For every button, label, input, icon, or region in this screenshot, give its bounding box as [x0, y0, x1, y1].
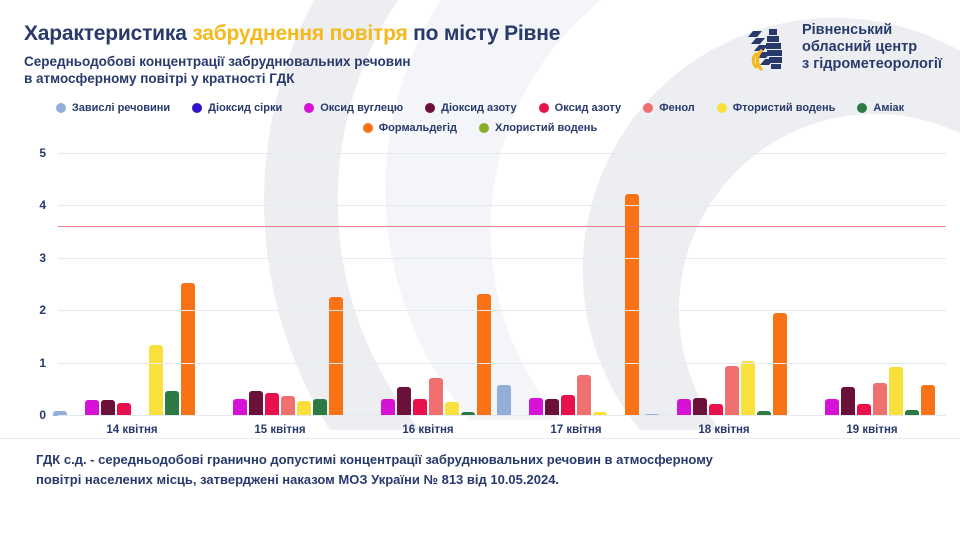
footnote-divider — [0, 438, 960, 439]
x-axis-tick-label: 19 квітня — [798, 424, 946, 436]
gridline-1: 1 — [58, 363, 946, 364]
gridline-0: 0 — [58, 415, 946, 416]
bar[interactable] — [921, 385, 935, 416]
bar[interactable] — [889, 367, 903, 416]
gdk-reference-line — [58, 226, 946, 228]
footnote-line-2: повітрі населених місць, затверджені нак… — [36, 470, 926, 490]
legend-item-label: Формальдегід — [379, 122, 457, 134]
legend-item-label: Хлористий водень — [495, 122, 597, 134]
bar[interactable] — [329, 297, 343, 416]
chart-area: 14 квітня15 квітня16 квітня17 квітня18 к… — [0, 142, 960, 437]
bar[interactable] — [841, 387, 855, 416]
x-axis-tick-label: 18 квітня — [650, 424, 798, 436]
legend-item-1[interactable]: Завислі речовини — [56, 102, 170, 114]
gridline-3: 3 — [58, 258, 946, 259]
gridline-4: 4 — [58, 205, 946, 206]
bar[interactable] — [741, 361, 755, 416]
bar[interactable] — [545, 399, 559, 416]
bar-group-bars — [502, 154, 650, 416]
bar[interactable] — [165, 391, 179, 416]
legend-item-label: Діоксид азоту — [441, 102, 517, 114]
bar[interactable] — [429, 378, 443, 416]
legend-item-label: Аміак — [873, 102, 904, 114]
x-axis-tick-label: 17 квітня — [502, 424, 650, 436]
bar[interactable] — [773, 313, 787, 416]
legend-item-8[interactable]: Аміак — [857, 102, 904, 114]
footnote: ГДК с.д. - середньодобові гранично допус… — [36, 450, 926, 490]
legend-color-swatch-icon — [425, 103, 435, 113]
bar[interactable] — [233, 399, 247, 416]
slide-root: Характеристика забруднення повітря по мі… — [0, 0, 960, 540]
bar[interactable] — [477, 294, 491, 416]
bar-group-6: 19 квітня — [798, 154, 946, 416]
legend-item-label: Фенол — [659, 102, 695, 114]
bar[interactable] — [281, 396, 295, 416]
bar-group-2: 15 квітня — [206, 154, 354, 416]
bar-group-bars — [650, 154, 798, 416]
legend-item-9[interactable]: Формальдегід — [363, 122, 457, 134]
legend-item-label: Завислі речовини — [72, 102, 170, 114]
y-axis-tick-label: 1 — [39, 356, 46, 370]
bar[interactable] — [413, 399, 427, 416]
x-axis-tick-label: 15 квітня — [206, 424, 354, 436]
bar[interactable] — [381, 399, 395, 416]
legend-item-label: Оксид вуглецю — [320, 102, 403, 114]
footnote-line-1: ГДК с.д. - середньодобові гранично допус… — [36, 450, 926, 470]
legend-item-label: Оксид азоту — [555, 102, 622, 114]
legend-color-swatch-icon — [304, 103, 314, 113]
bar-group-5: 18 квітня — [650, 154, 798, 416]
legend-color-swatch-icon — [539, 103, 549, 113]
page-subtitle: Середньодобові концентрації забруднюваль… — [24, 53, 560, 87]
legend-item-label: Фтористий водень — [733, 102, 836, 114]
bar-group-1: 14 квітня — [58, 154, 206, 416]
bar[interactable] — [149, 345, 163, 416]
x-axis-tick-label: 14 квітня — [58, 424, 206, 436]
bar[interactable] — [397, 387, 411, 416]
legend-color-swatch-icon — [717, 103, 727, 113]
legend-item-2[interactable]: Діоксид сірки — [192, 102, 282, 114]
y-axis-tick-label: 3 — [39, 251, 46, 265]
legend-item-6[interactable]: Фенол — [643, 102, 695, 114]
header: Характеристика забруднення повітря по мі… — [0, 0, 960, 96]
title-suffix: по місту Рівне — [408, 22, 561, 45]
legend-color-swatch-icon — [363, 123, 373, 133]
legend-color-swatch-icon — [56, 103, 66, 113]
bar[interactable] — [561, 395, 575, 416]
plot-region: 14 квітня15 квітня16 квітня17 квітня18 к… — [58, 154, 946, 416]
logo-line-3: з гідрометеорології — [802, 56, 942, 73]
bar-group-bars — [206, 154, 354, 416]
bar[interactable] — [265, 393, 279, 416]
bar[interactable] — [313, 399, 327, 416]
legend-color-swatch-icon — [479, 123, 489, 133]
legend-color-swatch-icon — [643, 103, 653, 113]
bar[interactable] — [577, 375, 591, 416]
subtitle-line-2: в атмосферному повітрі у кратності ГДК — [24, 70, 560, 87]
x-axis-tick-label: 16 квітня — [354, 424, 502, 436]
bar[interactable] — [529, 398, 543, 416]
bar[interactable] — [181, 283, 195, 416]
legend-item-3[interactable]: Оксид вуглецю — [304, 102, 403, 114]
bar[interactable] — [249, 391, 263, 416]
bar[interactable] — [445, 402, 459, 416]
legend-item-label: Діоксид сірки — [208, 102, 282, 114]
y-axis-tick-label: 4 — [39, 198, 46, 212]
organization-name: Рівненський обласний центр з гідрометеор… — [802, 22, 942, 73]
legend-item-10[interactable]: Хлористий водень — [479, 122, 597, 134]
legend-row-secondary: ФормальдегідХлористий водень — [0, 118, 960, 138]
bar-group-4: 17 квітня — [502, 154, 650, 416]
legend-row-primary: Завислі речовиниДіоксид сіркиОксид вугле… — [0, 98, 960, 118]
title-prefix: Характеристика — [24, 22, 192, 45]
chart-legend: Завислі речовиниДіоксид сіркиОксид вугле… — [0, 98, 960, 138]
y-axis-tick-label: 2 — [39, 303, 46, 317]
bar-groups: 14 квітня15 квітня16 квітня17 квітня18 к… — [58, 154, 946, 416]
legend-item-7[interactable]: Фтористий водень — [717, 102, 836, 114]
hydromet-wave-mountain-icon — [747, 25, 791, 71]
bar[interactable] — [297, 401, 311, 416]
organization-logo: Рівненський обласний центр з гідрометеор… — [747, 22, 942, 73]
bar[interactable] — [85, 400, 99, 416]
bar[interactable] — [873, 383, 887, 416]
gridline-5: 5 — [58, 153, 946, 154]
bar[interactable] — [497, 385, 511, 416]
y-axis-tick-label: 0 — [39, 408, 46, 422]
title-block: Характеристика забруднення повітря по мі… — [24, 22, 560, 87]
bar[interactable] — [693, 398, 707, 416]
bar-group-bars — [354, 154, 502, 416]
gridline-2: 2 — [58, 310, 946, 311]
bar[interactable] — [825, 399, 839, 416]
logo-line-1: Рівненський — [802, 22, 942, 39]
bar[interactable] — [101, 400, 115, 416]
y-axis-tick-label: 5 — [39, 146, 46, 160]
legend-item-4[interactable]: Діоксид азоту — [425, 102, 517, 114]
subtitle-line-1: Середньодобові концентрації забруднюваль… — [24, 53, 560, 70]
bar-group-3: 16 квітня — [354, 154, 502, 416]
legend-color-swatch-icon — [192, 103, 202, 113]
bar-group-bars — [798, 154, 946, 416]
legend-color-swatch-icon — [857, 103, 867, 113]
bar[interactable] — [725, 366, 739, 416]
bar-group-bars — [58, 154, 206, 416]
logo-line-2: обласний центр — [802, 39, 942, 56]
legend-item-5[interactable]: Оксид азоту — [539, 102, 622, 114]
bar[interactable] — [625, 194, 639, 416]
page-title: Характеристика забруднення повітря по мі… — [24, 22, 560, 46]
bar[interactable] — [677, 399, 691, 416]
title-highlight: забруднення повітря — [192, 22, 407, 45]
